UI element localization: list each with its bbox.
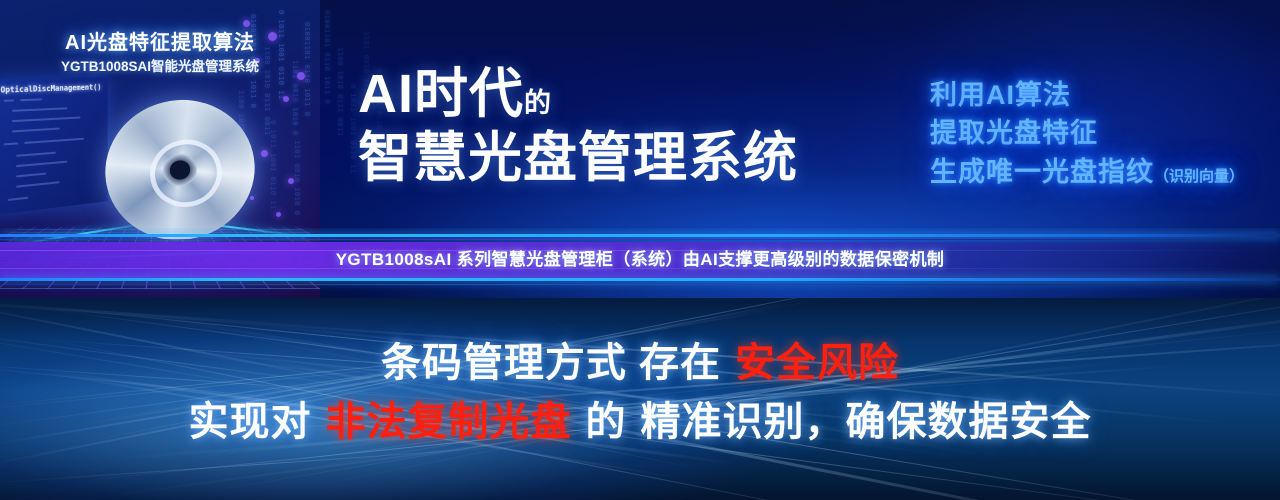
panel-subtitle: YGTB1008SAI智能光盘管理系统 — [0, 55, 320, 75]
feature-bullet-3-note: （识别向量） — [1154, 168, 1244, 185]
headline-line-2: 智慧光盘管理系统 — [358, 127, 798, 189]
bottom-line-2-highlight: 非法复制光盘 — [326, 400, 572, 444]
binary-stream: 0 1011 1001 0110 11 — [348, 84, 357, 174]
bottom-line-1: 条码管理方式 存在安全风险 — [0, 334, 1280, 393]
panel-title: AI光盘特征提取算法 — [0, 26, 320, 55]
binary-stream: 1100 1010 0111 0011 — [335, 47, 344, 137]
code-window-graphic: OpticalDiscManagement() — [0, 77, 108, 216]
code-window-label: OpticalDiscManagement() — [1, 83, 102, 95]
feature-bullet-3-text: 生成唯一光盘指纹 — [930, 157, 1154, 187]
bottom-line-1-part1: 条码管理方式 存在 — [381, 341, 721, 385]
top-hero-section: 01001101 0110 1011 01100 1010 0111 00110… — [0, 0, 1280, 298]
feature-bullet-3: 生成唯一光盘指纹（识别向量） — [930, 153, 1244, 191]
bottom-line-1-highlight: 安全风险 — [735, 341, 899, 385]
binary-dot — [261, 150, 268, 157]
bottom-message-section: 条码管理方式 存在安全风险 实现对非法复制光盘的精准识别，确保数据安全 — [0, 298, 1280, 500]
bottom-line-2-part3: 精准识别，确保数据安全 — [641, 400, 1092, 444]
headline-block: AI时代的 智慧光盘管理系统 — [358, 66, 798, 189]
bottom-text-block: 条码管理方式 存在安全风险 实现对非法复制光盘的精准识别，确保数据安全 — [0, 334, 1280, 452]
feature-bullet-2-text: 提取光盘特征 — [930, 118, 1098, 148]
feature-bullet-1: 利用AI算法 — [930, 76, 1244, 114]
feature-bullet-2: 提取光盘特征 — [930, 114, 1244, 152]
feature-bullet-1-text: 利用AI算法 — [930, 80, 1071, 110]
headline-line-1-main: AI时代 — [358, 64, 524, 124]
bottom-line-2: 实现对非法复制光盘的精准识别，确保数据安全 — [0, 393, 1280, 452]
feature-bullet-list: 利用AI算法 提取光盘特征 生成唯一光盘指纹（识别向量） — [930, 76, 1244, 191]
headline-line-1: AI时代的 — [358, 66, 798, 123]
binary-dot — [250, 196, 254, 200]
binary-stream: 0 1011 1001 0110 11 — [268, 120, 277, 210]
disc-inner-ring — [143, 132, 229, 214]
binary-stream: 1101 0010 1010 0 — [292, 140, 301, 215]
promo-banner: 01001101 0110 1011 01100 1010 0111 00110… — [0, 0, 1280, 500]
band-text: YGTB1008sAI 系列智慧光盘管理柜（系统）由AI支撑更高级别的数据保密机… — [0, 242, 1280, 278]
binary-dot — [276, 212, 281, 217]
headline-line-1-suffix: 的 — [524, 88, 552, 118]
bottom-line-2-part2: 的 — [586, 400, 627, 444]
bottom-line-2-part1: 实现对 — [189, 400, 312, 444]
binary-dot — [283, 96, 289, 102]
subtitle-neon-band: YGTB1008sAI 系列智慧光盘管理柜（系统）由AI支撑更高级别的数据保密机… — [0, 228, 1280, 292]
binary-dot — [288, 178, 294, 184]
binary-stream: 01001101 0110 1011 0 — [322, 10, 331, 104]
